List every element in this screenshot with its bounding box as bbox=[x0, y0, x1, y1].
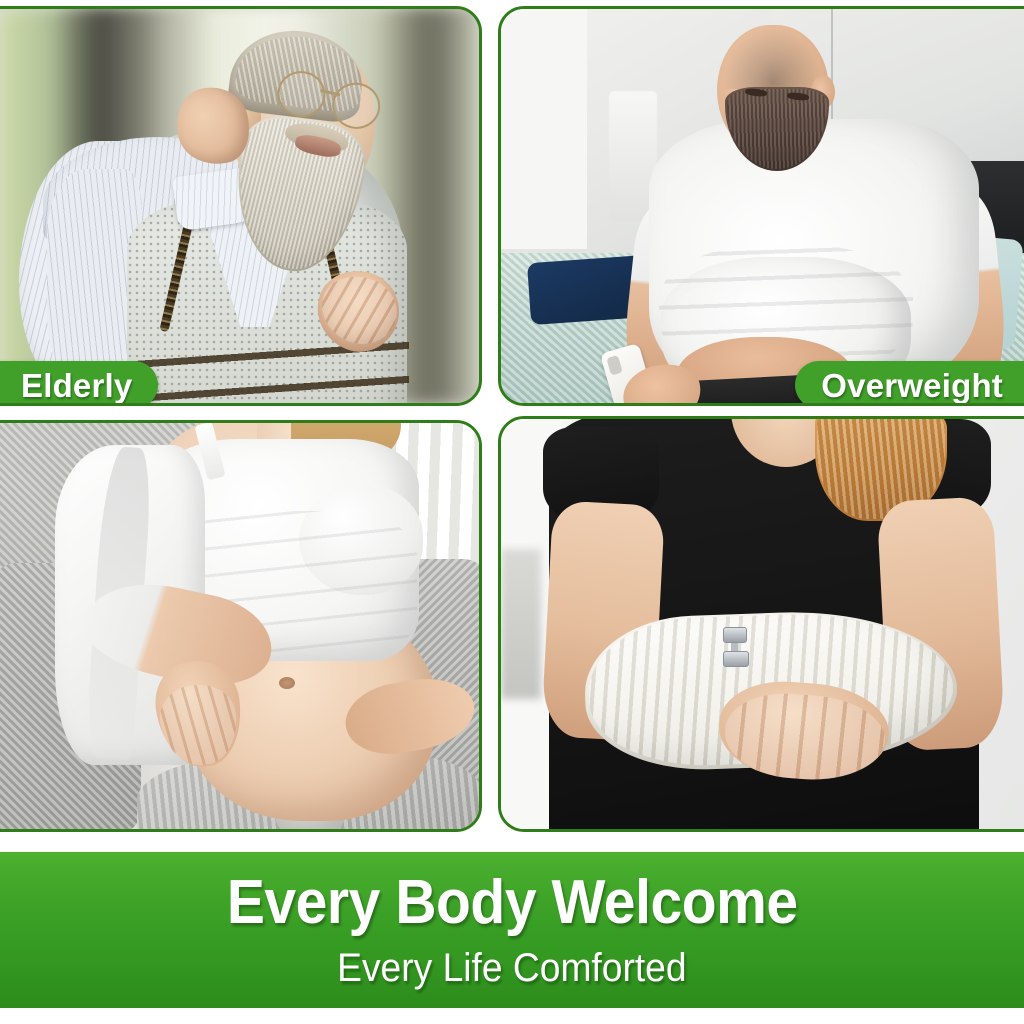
promo-collage: Elderly bbox=[0, 0, 1024, 1024]
label-badge-overweight-text: Overweight bbox=[821, 369, 1003, 402]
label-badge-elderly: Elderly bbox=[0, 361, 158, 406]
photo-pregnant bbox=[0, 423, 479, 829]
banner-headline: Every Body Welcome bbox=[227, 872, 798, 934]
photo-disabilities bbox=[501, 419, 1024, 829]
banner-subheadline: Every Life Comforted bbox=[337, 948, 686, 988]
bandage-clip-bottom bbox=[723, 651, 749, 667]
shaved-hair bbox=[723, 27, 823, 89]
blurred-object-left bbox=[501, 549, 541, 699]
panel-pregnant: Pregnant bbox=[0, 420, 482, 832]
label-badge-overweight: Overweight bbox=[795, 361, 1024, 406]
wall-left bbox=[501, 9, 587, 249]
phone-camera-icon bbox=[606, 355, 622, 376]
photo-overweight bbox=[501, 9, 1024, 403]
bandage-clip-top bbox=[723, 627, 747, 643]
panel-overweight: Overweight bbox=[498, 6, 1024, 406]
panel-disabilities: Disabilities bbox=[498, 416, 1024, 832]
panel-elderly: Elderly bbox=[0, 6, 482, 406]
photo-elderly bbox=[0, 9, 479, 403]
bottom-banner: Every Body Welcome Every Life Comforted bbox=[0, 852, 1024, 1008]
navel bbox=[279, 677, 295, 689]
label-badge-elderly-text: Elderly bbox=[21, 369, 132, 402]
